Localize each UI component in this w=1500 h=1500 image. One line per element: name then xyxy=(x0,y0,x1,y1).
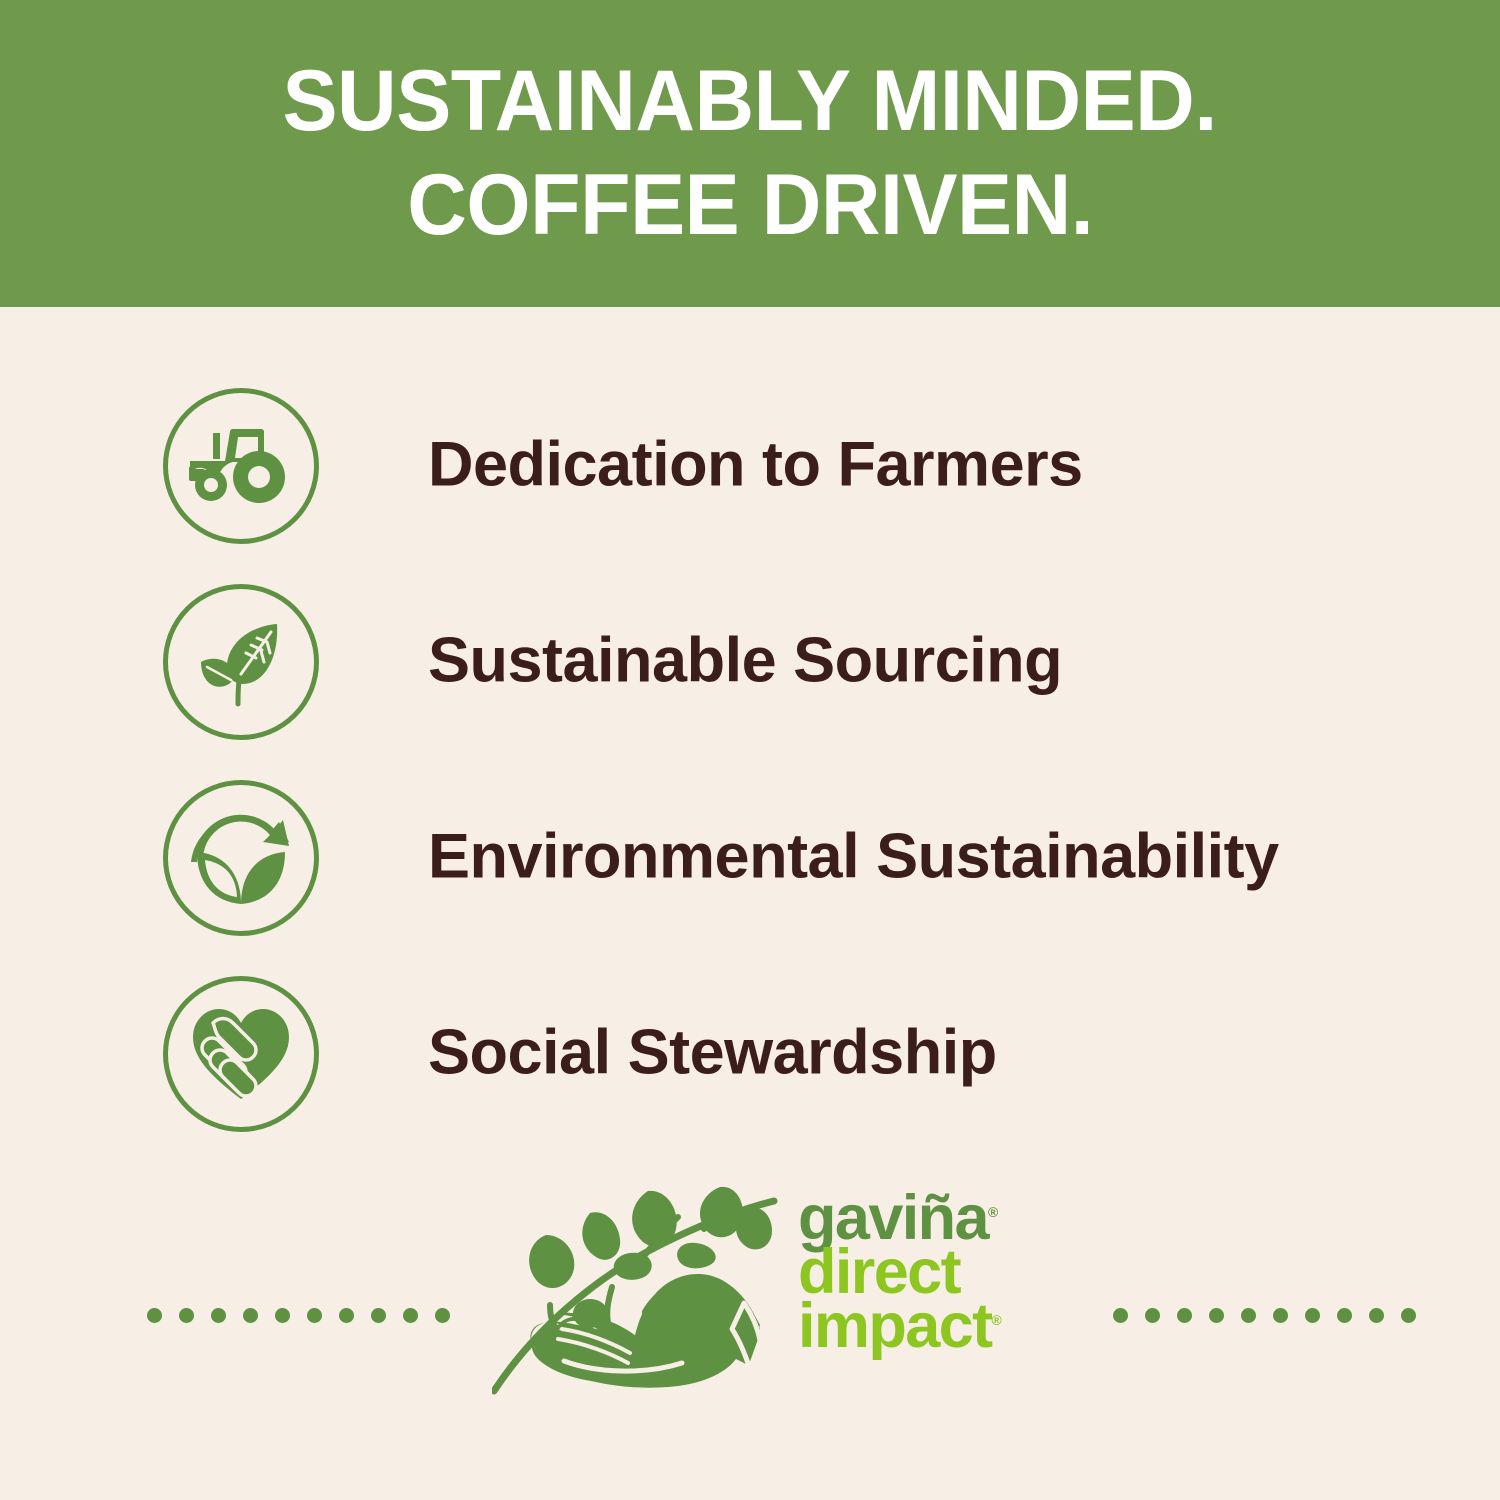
leaf-sprout-icon xyxy=(191,612,291,712)
decorative-dot xyxy=(1337,1308,1352,1323)
decorative-dot xyxy=(1241,1308,1256,1323)
brand-word-impact: impact® xyxy=(798,1299,1058,1353)
header-title-line-2: COFFEE DRIVEN. xyxy=(407,162,1093,250)
dotted-rule-right xyxy=(1113,1308,1416,1323)
decorative-dot xyxy=(179,1308,194,1323)
recycle-leaf-icon-badge xyxy=(163,780,319,936)
decorative-dot xyxy=(1209,1308,1224,1323)
leaf-sprout-icon-badge xyxy=(163,584,319,740)
tractor-icon xyxy=(189,425,293,507)
feature-row: Environmental Sustainability xyxy=(0,759,1500,955)
brand-logo: gaviña® direct impact® xyxy=(0,1175,1500,1425)
tractor-icon-badge xyxy=(163,388,319,544)
decorative-dot xyxy=(1401,1308,1416,1323)
registered-mark: ® xyxy=(991,1312,1001,1328)
recycle-leaf-icon xyxy=(189,806,293,910)
feature-label: Sustainable Sourcing xyxy=(428,630,1062,693)
decorative-dot xyxy=(211,1308,226,1323)
decorative-dot xyxy=(435,1308,450,1323)
brand-wordmark: gaviña® direct impact® xyxy=(798,1191,1058,1354)
decorative-dot xyxy=(1177,1308,1192,1323)
decorative-dot xyxy=(243,1308,258,1323)
decorative-dot xyxy=(307,1308,322,1323)
decorative-dot xyxy=(1305,1308,1320,1323)
feature-label: Social Stewardship xyxy=(428,1022,997,1085)
handshake-heart-icon-badge xyxy=(163,976,319,1132)
decorative-dot xyxy=(275,1308,290,1323)
decorative-dot xyxy=(147,1308,162,1323)
header-banner: SUSTAINABLY MINDED. COFFEE DRIVEN. xyxy=(0,0,1500,307)
handshake-heart-icon xyxy=(191,1007,291,1101)
header-title-line-1: SUSTAINABLY MINDED. xyxy=(283,58,1217,146)
feature-label: Environmental Sustainability xyxy=(428,826,1279,889)
feature-label: Dedication to Farmers xyxy=(428,434,1083,497)
feature-row: Social Stewardship xyxy=(0,955,1500,1151)
decorative-dot xyxy=(1113,1308,1128,1323)
hand-holding-branch-icon xyxy=(492,1183,792,1418)
decorative-dot xyxy=(1273,1308,1288,1323)
feature-row: Dedication to Farmers xyxy=(0,367,1500,563)
decorative-dot xyxy=(339,1308,354,1323)
decorative-dot xyxy=(1145,1308,1160,1323)
decorative-dot xyxy=(403,1308,418,1323)
decorative-dot xyxy=(1369,1308,1384,1323)
sustainability-poster: SUSTAINABLY MINDED. COFFEE DRIVEN. xyxy=(0,0,1500,1500)
registered-mark: ® xyxy=(988,1204,998,1220)
dotted-rule-left xyxy=(147,1308,450,1323)
decorative-dot xyxy=(371,1308,386,1323)
feature-row: Sustainable Sourcing xyxy=(0,563,1500,759)
